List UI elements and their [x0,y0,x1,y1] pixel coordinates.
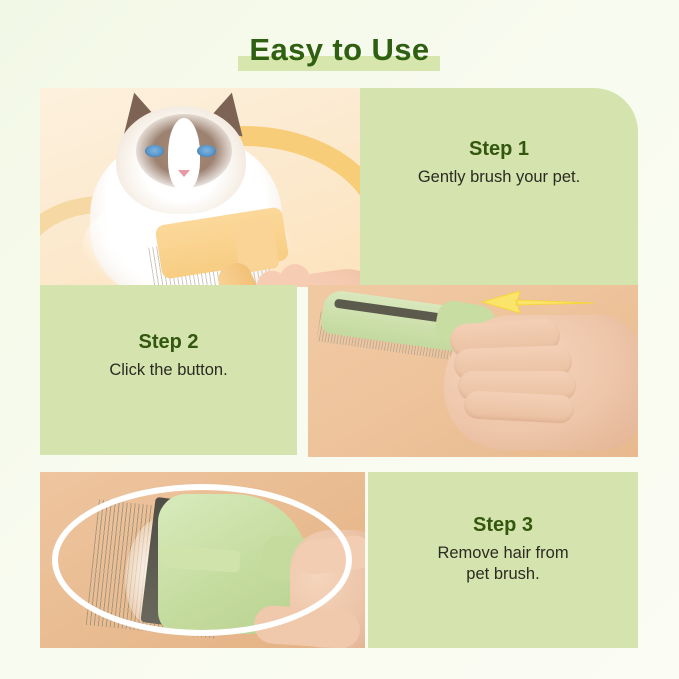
step-1-description: Gently brush your pet. [360,167,638,188]
step-2-heading: Step 2 [40,331,297,353]
step-1-text: Step 1 Gently brush your pet. [360,138,638,188]
step-1-photo [40,88,360,287]
step-3-description-line-2: pet brush. [368,564,638,585]
step-3-description-line-1: Remove hair from [368,543,638,564]
step-2-panel: Step 2 Click the button. [40,285,297,455]
page-title: Easy to Use [249,32,429,67]
step-2-description: Click the button. [40,360,297,381]
arrow-left-icon [476,289,594,315]
cat-face-blaze [168,118,200,190]
cat-eye-left [145,145,164,157]
step-3-panel: Step 3 Remove hair from pet brush. [368,472,638,648]
step-3-photo [40,472,365,648]
step-3-text: Step 3 Remove hair from pet brush. [368,514,638,585]
step-2-photo [308,285,638,457]
page-title-area: Easy to Use [0,28,679,76]
step-2-text: Step 2 Click the button. [40,331,297,381]
cat-nose [178,170,190,177]
infographic-page: Easy to Use Step 1 Gently brush your pet… [0,0,679,679]
finger [463,390,574,424]
step-1-panel: Step 1 Gently brush your pet. [360,88,638,287]
step-1-heading: Step 1 [360,138,638,160]
cat-eye-right [197,145,216,157]
step-3-heading: Step 3 [368,514,638,536]
highlight-ellipse [52,484,352,636]
